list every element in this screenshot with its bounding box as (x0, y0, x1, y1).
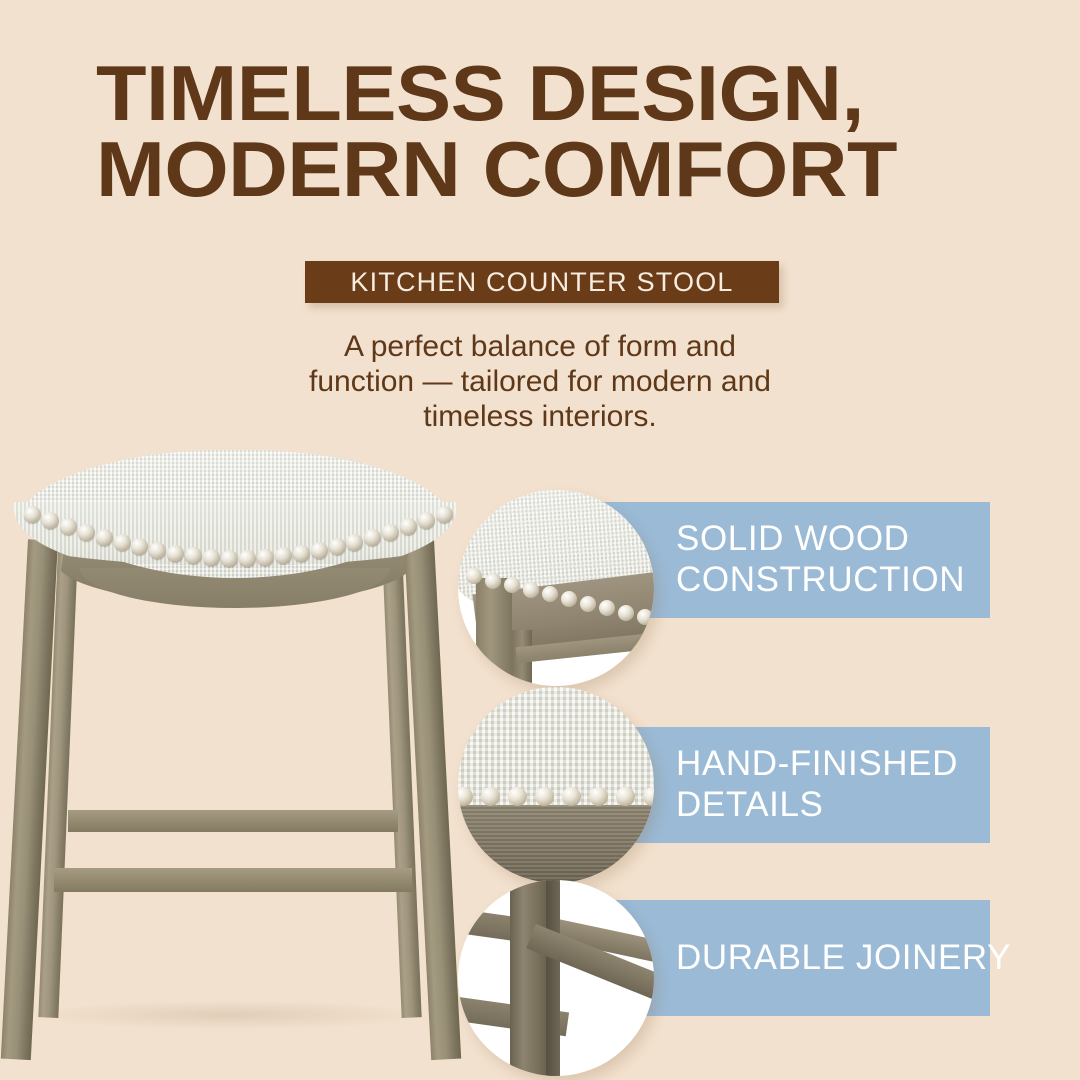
nailhead (436, 506, 453, 523)
feature-label-1-line-1: SOLID WOOD (676, 519, 965, 560)
feature-solid-wood-construction: SOLID WOOD CONSTRUCTION (458, 490, 990, 690)
headline-line-1: TIMELESS DESIGN, (96, 56, 1071, 132)
nailhead (221, 550, 238, 567)
nailhead (149, 542, 166, 559)
nailhead (257, 549, 274, 566)
description-line-2: function — tailored for modern and (190, 365, 890, 400)
stool-stretcher-lower (54, 868, 412, 892)
nailhead (203, 549, 220, 566)
nailhead (418, 512, 435, 529)
nailhead (78, 524, 95, 541)
nailhead (60, 518, 77, 535)
nailhead (616, 787, 635, 806)
nailhead (364, 529, 381, 546)
feature-label-1-line-2: CONSTRUCTION (676, 560, 965, 601)
feature-label-2-line-2: DETAILS (676, 785, 958, 826)
description-line-3: timeless interiors. (190, 400, 890, 435)
feature-thumbnail-2 (458, 687, 654, 883)
thumb2-wood-frame (458, 805, 654, 883)
feature-thumbnail-1 (458, 490, 654, 686)
nailhead (466, 568, 482, 584)
nailhead (167, 545, 184, 562)
seat-nailhead-trim (14, 450, 456, 578)
page-title: TIMELESS DESIGN, MODERN COMFORT (96, 56, 1071, 207)
nailhead (485, 573, 501, 589)
stool-saddle-seat (14, 450, 456, 578)
feature-durable-joinery: DURABLE JOINERY (458, 880, 990, 1080)
nailhead (96, 529, 113, 546)
nailhead (329, 538, 346, 555)
product-hero-image (0, 440, 470, 1060)
feature-label-3-line-1: DURABLE JOINERY (676, 938, 1011, 979)
product-description: A perfect balance of form and function —… (190, 330, 890, 434)
nailhead (561, 591, 577, 607)
feature-thumbnail-3 (458, 880, 654, 1076)
thumb1-leg-post (476, 578, 512, 686)
product-shadow (30, 1000, 430, 1030)
description-line-1: A perfect balance of form and (190, 330, 890, 365)
nailhead (400, 518, 417, 535)
nailhead (382, 524, 399, 541)
stool-stretcher-upper (68, 810, 398, 832)
feature-label-2-line-1: HAND-FINISHED (676, 744, 958, 785)
nailhead (114, 534, 131, 551)
nailhead (508, 787, 527, 806)
nailhead (580, 596, 596, 612)
feature-hand-finished-details: HAND-FINISHED DETAILS (458, 685, 990, 885)
nailhead (185, 547, 202, 564)
nailhead (346, 534, 363, 551)
nailhead (618, 605, 634, 621)
nailhead (562, 787, 581, 806)
headline-line-2: MODERN COMFORT (96, 132, 1071, 208)
infographic-canvas: TIMELESS DESIGN, MODERN COMFORT KITCHEN … (0, 0, 1080, 1080)
nailhead (275, 547, 292, 564)
nailhead (131, 538, 148, 555)
product-category-label: KITCHEN COUNTER STOOL (350, 267, 733, 298)
nailhead (42, 512, 59, 529)
nailhead (589, 787, 608, 806)
nailhead (311, 542, 328, 559)
nailhead (535, 787, 554, 806)
nailhead (481, 787, 500, 806)
nailhead (523, 582, 539, 598)
nailhead (293, 545, 310, 562)
nailhead (24, 506, 41, 523)
nailhead (239, 550, 256, 567)
product-category-badge: KITCHEN COUNTER STOOL (305, 261, 779, 303)
thumb3-leg-post-edge (546, 880, 560, 1076)
